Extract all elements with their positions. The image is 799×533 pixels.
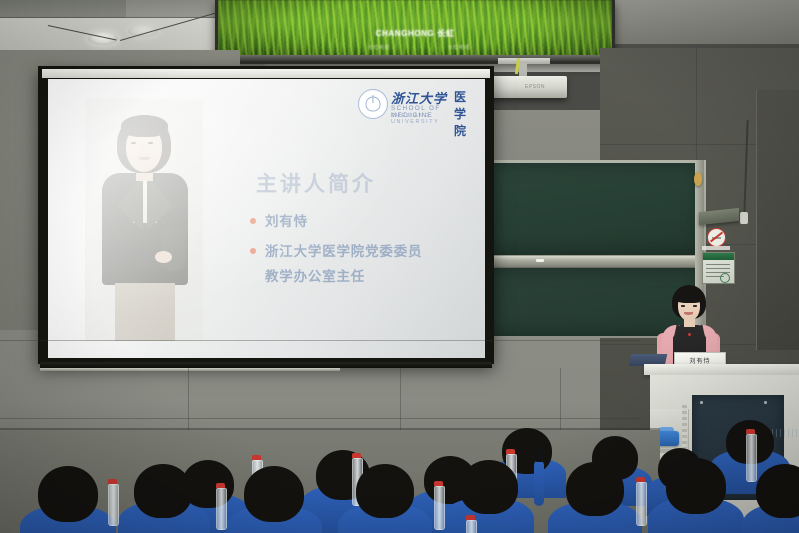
- notice-board-seal: [720, 273, 730, 283]
- bottle-cap: [434, 481, 443, 486]
- audience-head: [460, 460, 518, 514]
- water-bottle[interactable]: [466, 520, 477, 533]
- notice-line: [706, 268, 730, 269]
- audience-head: [756, 464, 799, 518]
- blackboard-chalk-rail: [480, 256, 702, 267]
- notice-line: [706, 264, 730, 265]
- bottle-cap: [506, 449, 515, 454]
- tv-brand-watermark: CHANGHONG 长虹: [376, 28, 455, 39]
- speaker-badge: [688, 333, 691, 336]
- speaker-eye-right: [693, 305, 697, 307]
- audience: [0, 398, 799, 533]
- right-door-panel[interactable]: [756, 90, 799, 350]
- no-smoking-icon: [707, 228, 726, 247]
- wall-chalk-rail-left: [40, 368, 340, 371]
- tv-sub-watermark-left: 长虹电视: [368, 44, 390, 51]
- chalk-piece[interactable]: [536, 259, 544, 262]
- audience-head: [38, 466, 98, 522]
- blackboard-hook: [694, 172, 702, 186]
- water-bottle[interactable]: [434, 486, 445, 530]
- speaker-mouth: [684, 312, 693, 315]
- water-bottle[interactable]: [636, 482, 647, 526]
- podium-top-surface: [644, 364, 799, 375]
- audience-head: [666, 458, 726, 514]
- tv-sub-watermark-right: 长虹电视: [448, 44, 470, 51]
- tv-bezel: [218, 55, 612, 61]
- notice-board: [702, 252, 735, 284]
- speaker-eye-left: [681, 305, 685, 307]
- projector-brand-label: EPSON: [525, 84, 545, 90]
- bottle-cap: [216, 483, 225, 488]
- audience-head: [134, 464, 192, 518]
- projection-screen: 浙江大学 医学院 SCHOOL OF MEDICINE ZHEJIANG UNI…: [48, 79, 485, 358]
- no-smoking-sign-label: [702, 246, 730, 250]
- audience-head: [566, 462, 624, 516]
- water-bottle[interactable]: [108, 484, 119, 526]
- wall-pipe-fitting: [740, 212, 748, 224]
- audience-head: [356, 464, 414, 518]
- bottle-cap: [108, 479, 117, 484]
- lecture-hall-photo: CHANGHONG 长虹 长虹电视 长虹电视 EPSON: [0, 0, 799, 533]
- bottle-cap: [352, 453, 361, 458]
- bottle-cap: [466, 515, 475, 520]
- wall-television: CHANGHONG 长虹 长虹电视 长虹电视: [215, 0, 615, 64]
- wall-seam: [0, 340, 640, 341]
- blackboard-panel-upper: [482, 163, 700, 255]
- audience-phone[interactable]: [536, 450, 543, 462]
- screen-glare: [48, 79, 485, 358]
- bottle-cap: [636, 477, 645, 482]
- speaker-fringe: [675, 290, 704, 303]
- ceiling-projector: EPSON: [489, 76, 567, 98]
- audience-raised-arm: [534, 460, 544, 506]
- bottle-cap: [746, 429, 755, 434]
- water-bottle[interactable]: [216, 488, 227, 530]
- bottle-cap: [252, 455, 261, 460]
- audience-head: [244, 466, 304, 522]
- water-bottle[interactable]: [746, 434, 757, 482]
- projection-screen-top-bar: [42, 69, 490, 78]
- notice-board-header: [703, 253, 734, 260]
